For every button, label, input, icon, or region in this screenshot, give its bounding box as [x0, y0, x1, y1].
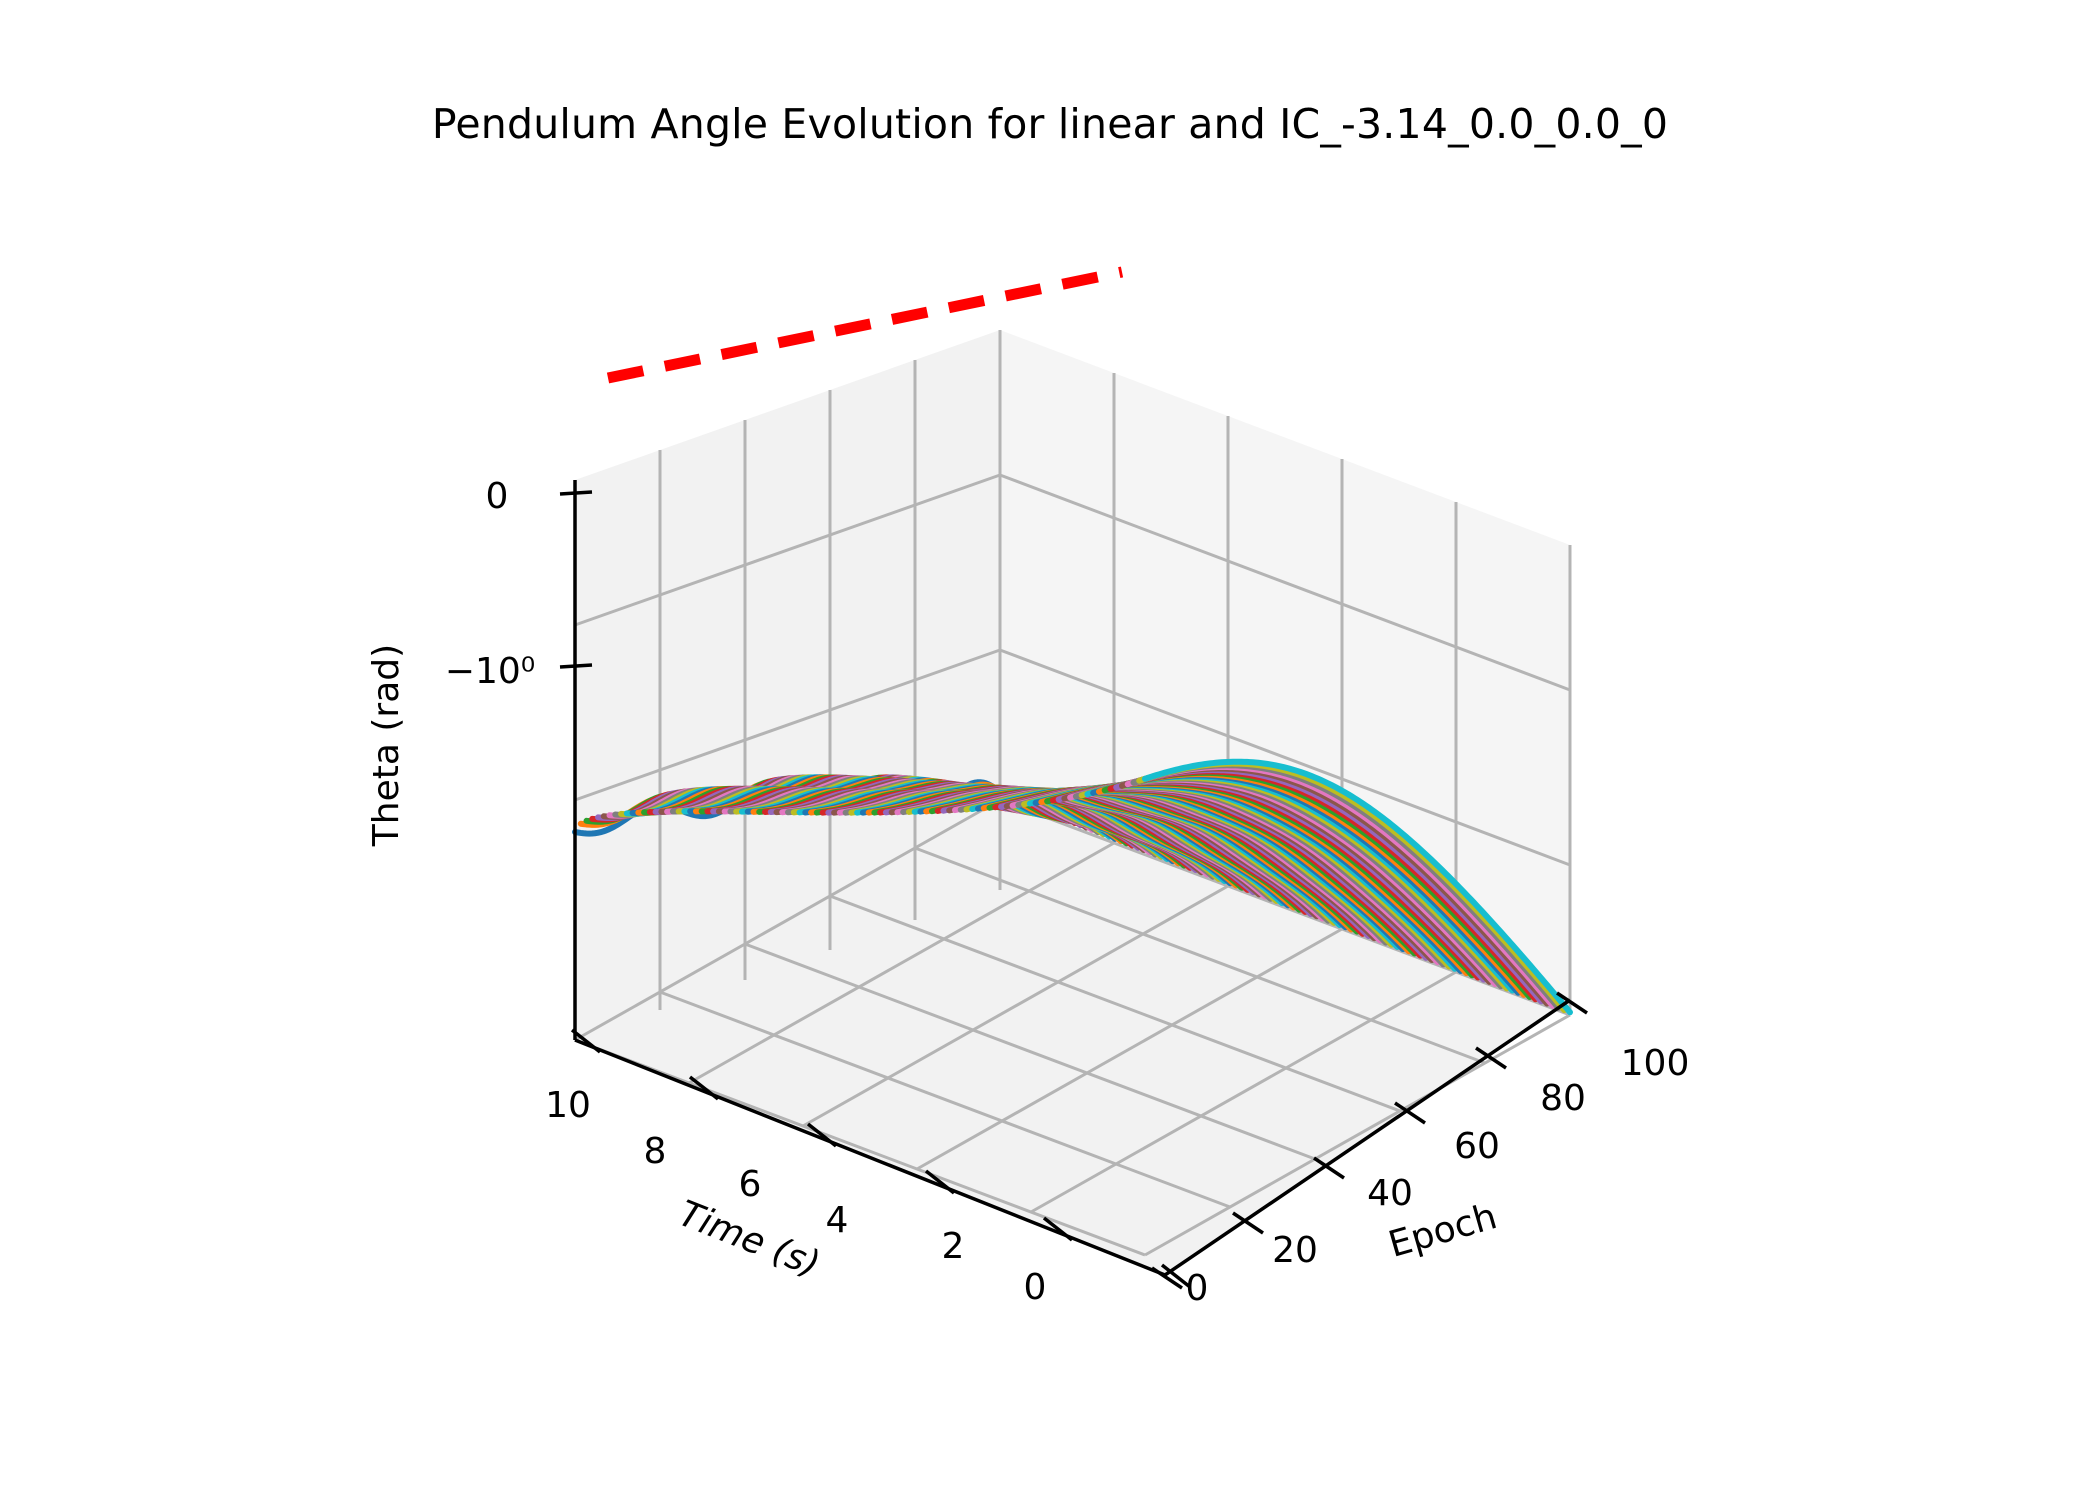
- y-tick-label-40: 40: [1367, 1173, 1413, 1214]
- y-tick-label-0: 0: [1186, 1268, 1209, 1309]
- z-axis-label: Theta (rad): [366, 644, 407, 847]
- y-tick-label-100: 100: [1621, 1043, 1690, 1084]
- figure-canvas: Pendulum Angle Evolution for linear and …: [0, 0, 2100, 1500]
- x-tick-label-8: 8: [644, 1131, 667, 1172]
- z-tick-label-0: 0: [486, 476, 509, 517]
- x-tick-label-2: 2: [942, 1226, 965, 1267]
- x-tick-label-10: 10: [545, 1085, 591, 1126]
- axes-3d: 0 −10⁰ Theta (rad) 10 8 6 4 2 0 Time (s)…: [0, 0, 2100, 1500]
- y-tick-label-20: 20: [1272, 1230, 1318, 1271]
- x-axis-label: Time (s): [673, 1193, 825, 1285]
- y-tick-label-60: 60: [1454, 1126, 1500, 1167]
- y-tick-label-80: 80: [1540, 1078, 1586, 1119]
- x-tick-label-4: 4: [826, 1200, 849, 1241]
- ztick-0: [560, 492, 592, 494]
- x-tick-label-0: 0: [1024, 1267, 1047, 1308]
- x-tick-label-6: 6: [739, 1164, 762, 1205]
- ztick-1: [560, 665, 592, 667]
- z-tick-label-1: −10⁰: [445, 651, 535, 692]
